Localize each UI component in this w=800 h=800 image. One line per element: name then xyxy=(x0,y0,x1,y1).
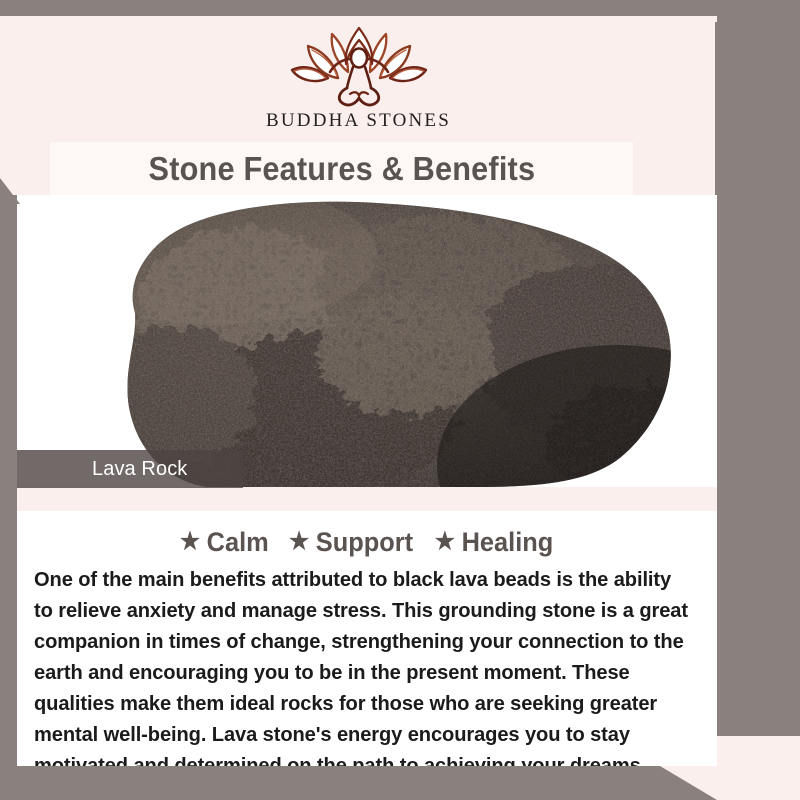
photo-caption-text: Lava Rock xyxy=(92,458,187,481)
stone-photo xyxy=(17,195,717,487)
benefit-label: Calm xyxy=(206,527,268,558)
description-text: One of the main benefits attributed to b… xyxy=(34,565,691,782)
frame-right-strip xyxy=(715,0,800,800)
frame-top-strip xyxy=(0,0,800,16)
benefit-label: Healing xyxy=(462,527,554,558)
benefit-label: Support xyxy=(316,527,413,558)
benefit-support: ★ Support xyxy=(289,527,413,558)
star-icon: ★ xyxy=(435,530,455,554)
photo-caption-banner: Lava Rock xyxy=(17,450,243,488)
brand-name: BUDDHA STONES xyxy=(266,110,451,132)
frame-left-bar xyxy=(0,195,17,800)
poster-root: BUDDHA STONES Stone Features & Benefits xyxy=(0,0,800,800)
benefit-calm: ★ Calm xyxy=(180,527,269,558)
title-band: Stone Features & Benefits xyxy=(50,142,633,195)
benefits-row: ★ Calm ★ Support ★ Healing xyxy=(17,521,717,563)
description-panel: ★ Calm ★ Support ★ Healing One of the ma… xyxy=(17,511,717,766)
lava-rock-image xyxy=(17,195,717,487)
lotus-meditation-figure-icon xyxy=(284,26,434,108)
corner-notch-top-right xyxy=(711,16,717,22)
photo-text-separator xyxy=(17,487,717,511)
page-title: Stone Features & Benefits xyxy=(148,150,535,188)
star-icon: ★ xyxy=(180,530,200,554)
brand-header: BUDDHA STONES xyxy=(0,16,717,142)
benefit-healing: ★ Healing xyxy=(435,527,553,558)
star-icon: ★ xyxy=(289,530,309,554)
